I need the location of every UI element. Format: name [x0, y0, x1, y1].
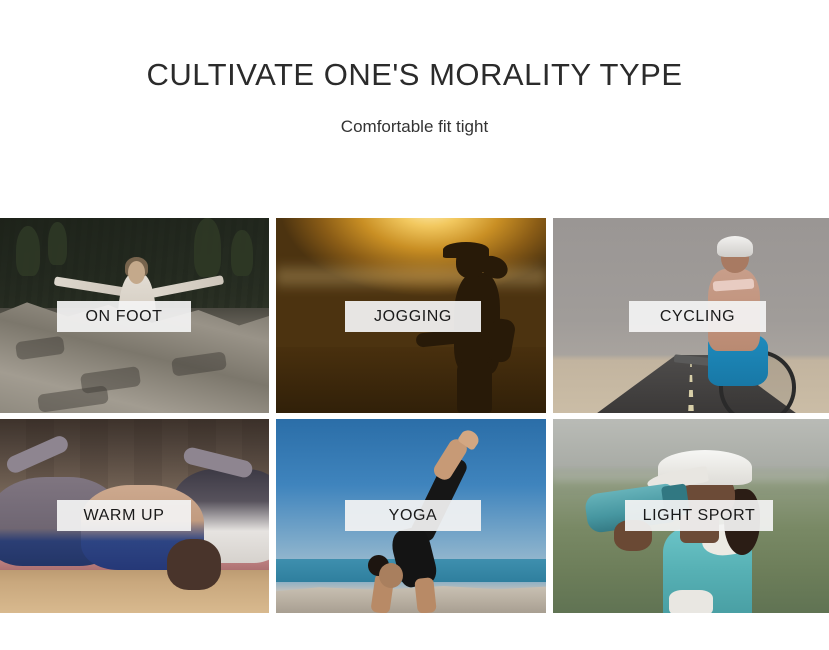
- category-label-light-sport[interactable]: LIGHT SPORT: [625, 500, 773, 531]
- category-label-jogging[interactable]: JOGGING: [345, 301, 481, 332]
- tree-shape: [231, 230, 253, 277]
- page-title: CULTIVATE ONE'S MORALITY TYPE: [0, 58, 829, 92]
- header: CULTIVATE ONE'S MORALITY TYPE Comfortabl…: [0, 0, 829, 137]
- tree-shape: [16, 226, 40, 277]
- category-tile-jogging[interactable]: JOGGING: [276, 218, 546, 413]
- category-tile-light-sport[interactable]: LIGHT SPORT: [553, 419, 829, 613]
- category-tile-cycling[interactable]: CYCLING: [553, 218, 829, 413]
- category-tile-on-foot[interactable]: ON FOOT: [0, 218, 269, 413]
- category-label-on-foot[interactable]: ON FOOT: [57, 301, 191, 332]
- category-label-warm-up[interactable]: WARM UP: [57, 500, 191, 531]
- runner-cap: [443, 242, 489, 258]
- page-subtitle: Comfortable fit tight: [0, 92, 829, 137]
- category-tile-yoga[interactable]: YOGA: [276, 419, 546, 613]
- cyclist-helmet: [717, 236, 753, 257]
- yogi-head: [379, 563, 403, 588]
- athlete-glove: [669, 590, 713, 613]
- category-tile-warm-up[interactable]: WARM UP: [0, 419, 269, 613]
- promo-banner: CULTIVATE ONE'S MORALITY TYPE Comfortabl…: [0, 0, 829, 650]
- tree-shape: [194, 218, 221, 277]
- category-label-yoga[interactable]: YOGA: [345, 500, 481, 531]
- yogi-arm-free: [415, 577, 437, 613]
- category-grid: ON FOOT JOGGING: [0, 218, 829, 613]
- category-label-cycling[interactable]: CYCLING: [629, 301, 766, 332]
- person-hair: [167, 539, 221, 589]
- runner-leg: [457, 362, 492, 413]
- tree-shape: [48, 222, 67, 265]
